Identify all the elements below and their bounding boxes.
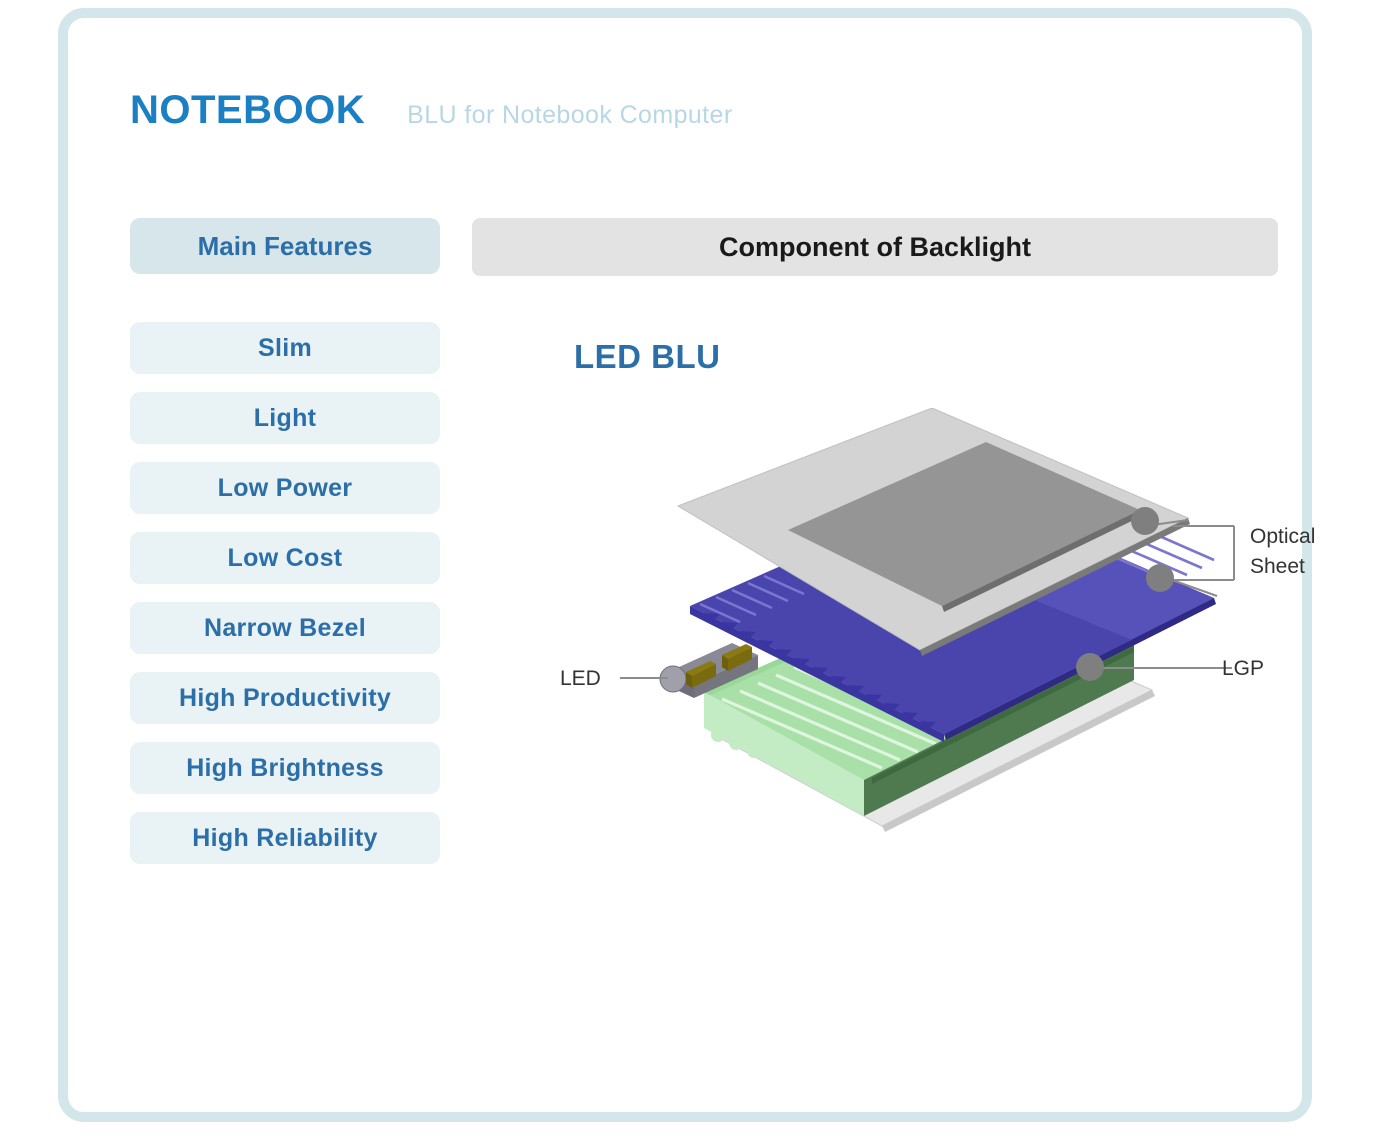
sidebar-item-narrow-bezel[interactable]: Narrow Bezel [130,602,440,654]
optical-sheet-lower-dot-icon [1146,564,1174,592]
sidebar-item-high-brightness[interactable]: High Brightness [130,742,440,794]
sidebar-item-light[interactable]: Light [130,392,440,444]
diagram-heading-led-blu: LED BLU [574,338,1278,376]
optical-sheet-callout: Optical Sheet [1131,507,1315,596]
sidebar-item-low-cost[interactable]: Low Cost [130,532,440,584]
optical-sheet-upper-dot-icon [1131,507,1159,535]
optical-sheet-label-line1: Optical [1250,525,1315,548]
sidebar-header-main-features[interactable]: Main Features [130,218,440,274]
sidebar-item-high-productivity[interactable]: High Productivity [130,672,440,724]
page-subtitle: BLU for Notebook Computer [407,103,732,128]
panel-header-component-of-backlight[interactable]: Component of Backlight [472,218,1278,276]
led-label: LED [560,667,601,690]
lgp-label: LGP [1222,657,1264,680]
sidebar: Main Features Slim Light Low Power Low C… [130,218,440,864]
led-callout: LED [560,667,668,690]
optical-sheet-label-line2: Sheet [1250,555,1305,578]
backlight-exploded-diagram: LED Optical Sheet LGP [472,408,1352,878]
page-frame: NOTEBOOK BLU for Notebook Computer Main … [58,8,1312,1122]
sidebar-item-low-power[interactable]: Low Power [130,462,440,514]
sidebar-item-high-reliability[interactable]: High Reliability [130,812,440,864]
sidebar-item-slim[interactable]: Slim [130,322,440,374]
sidebar-feature-list: Slim Light Low Power Low Cost Narrow Bez… [130,322,440,864]
main-panel: Component of Backlight LED BLU [472,218,1278,376]
lgp-dot-icon [1076,653,1104,681]
page-title: NOTEBOOK [130,90,365,130]
brand-row: NOTEBOOK BLU for Notebook Computer [130,90,733,130]
